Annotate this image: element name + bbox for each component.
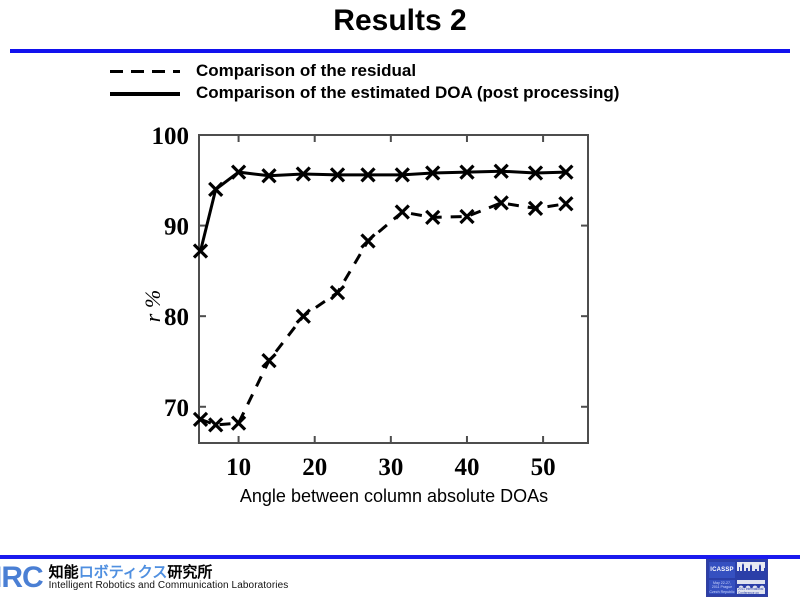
irc-jp-part-3: 研究所 (167, 563, 212, 581)
svg-text:70: 70 (164, 395, 189, 422)
x-axis-title: Angle between column absolute DOAs (240, 486, 548, 506)
legend-label-estimated-doa: Comparison of the estimated DOA (post pr… (188, 83, 619, 103)
dashed-line-swatch-icon (110, 62, 188, 80)
icassp-badge-date-cell: May 22-27, 2011 Prague Czech Republic (709, 580, 735, 594)
irc-jp-part-1: 知能 (49, 563, 79, 581)
svg-text:30: 30 (378, 454, 403, 481)
footer-divider (0, 555, 800, 559)
page-title: Results 2 (0, 4, 800, 38)
svg-text:80: 80 (164, 304, 189, 331)
svg-text:100: 100 (152, 123, 190, 150)
title-divider (10, 49, 790, 53)
axis-tick-marks (199, 135, 588, 443)
icassp-date-label: May 22-27, 2011 Prague Czech Republic (709, 580, 735, 594)
icassp-skyline-icon (737, 562, 765, 578)
svg-text:20: 20 (302, 454, 327, 481)
icassp-caption-label: 2011 International Conference on Acousti… (737, 588, 765, 594)
irc-name-english: Intelligent Robotics and Communication L… (49, 580, 289, 592)
irc-mark-text: IRC (0, 563, 43, 593)
legend-item-estimated-doa: Comparison of the estimated DOA (post pr… (110, 82, 750, 104)
legend-item-residual: Comparison of the residual (110, 60, 750, 82)
y-axis-title: r % (140, 290, 165, 322)
y-axis-tick-labels: 708090100 (152, 123, 190, 422)
irc-name-japanese: 知能ロボティクス研究所 (49, 564, 289, 580)
irc-logo: IRC 知能ロボティクス研究所 Intelligent Robotics and… (0, 563, 288, 593)
chart-area: 708090100 1020304050 r % Angle between c… (0, 110, 800, 530)
plot-frame (199, 135, 588, 443)
legend-label-residual: Comparison of the residual (188, 61, 416, 81)
svg-text:90: 90 (164, 214, 189, 241)
irc-jp-part-2: ロボティクス (79, 563, 168, 581)
svg-text:50: 50 (531, 454, 556, 481)
chart-legend: Comparison of the residual Comparison of… (110, 60, 750, 104)
svg-text:r %: r % (140, 290, 165, 322)
icassp-badge: ICASSP May 22-27, 2011 Prague Czech Repu… (706, 559, 768, 597)
icassp-conference-label: ICASSP (709, 562, 735, 578)
x-axis-tick-labels: 1020304050 (226, 454, 556, 481)
icassp-badge-caption-cell: 2011 International Conference on Acousti… (737, 580, 765, 594)
solid-line-swatch-icon (110, 84, 188, 102)
city-skyline-icon (737, 562, 765, 578)
svg-text:10: 10 (226, 454, 251, 481)
data-series-layer (194, 165, 572, 432)
results-line-chart: 708090100 1020304050 r % Angle between c… (0, 110, 800, 530)
svg-text:40: 40 (454, 454, 479, 481)
icassp-badge-name-cell: ICASSP (709, 562, 735, 578)
